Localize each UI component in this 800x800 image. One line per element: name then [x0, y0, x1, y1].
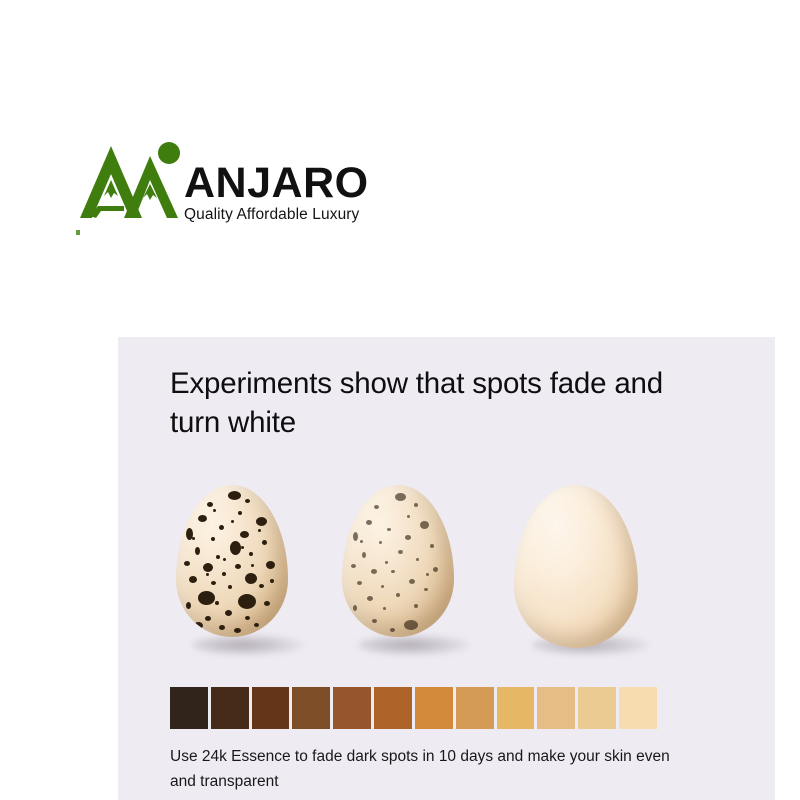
palette-swatch: [211, 687, 249, 729]
skin-tone-palette: [170, 687, 657, 729]
palette-swatch: [252, 687, 290, 729]
brand-tagline: Quality Affordable Luxury: [184, 206, 369, 224]
palette-swatch: [578, 687, 616, 729]
egg-clear-white: [506, 485, 646, 657]
brand-wordmark: ANJARO Quality Affordable Luxury: [184, 162, 369, 224]
egg-shadow: [192, 634, 304, 656]
egg-comparison-row: [170, 485, 740, 660]
egg-heavily-spotted: [170, 485, 296, 657]
palette-swatch: [619, 687, 657, 729]
egg-shell: [342, 485, 454, 637]
egg-shell: [514, 485, 638, 648]
egg-spot-group: [342, 485, 454, 637]
palette-swatch: [456, 687, 494, 729]
promo-card: Experiments show that spots fade and tur…: [118, 337, 775, 800]
egg-shadow: [358, 634, 470, 656]
palette-swatch: [415, 687, 453, 729]
egg-spot-group: [176, 485, 288, 637]
palette-swatch: [374, 687, 412, 729]
palette-swatch: [333, 687, 371, 729]
mountain-peaks-icon: [78, 140, 186, 230]
egg-shell: [176, 485, 288, 637]
promo-headline: Experiments show that spots fade and tur…: [170, 364, 690, 442]
palette-swatch: [497, 687, 535, 729]
brand-name: ANJARO: [184, 162, 369, 205]
brand-logo: ANJARO Quality Affordable Luxury: [78, 140, 368, 235]
sun-dot-icon: [158, 142, 180, 164]
promo-caption: Use 24k Essence to fade dark spots in 10…: [170, 744, 670, 794]
palette-swatch: [537, 687, 575, 729]
logo-speck-artifact: [76, 230, 80, 235]
palette-swatch: [292, 687, 330, 729]
palette-swatch: [170, 687, 208, 729]
egg-faded-spots: [336, 485, 462, 657]
